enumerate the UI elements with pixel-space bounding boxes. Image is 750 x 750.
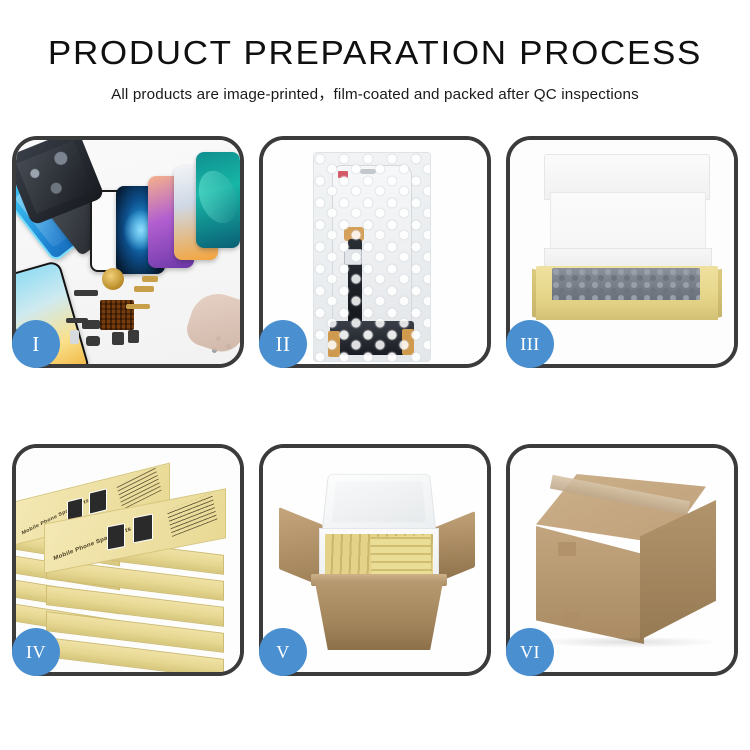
process-steps-grid: I: [12, 136, 738, 692]
foam-lid-icon: [322, 474, 437, 532]
gray-bubble-wrap-icon: [552, 268, 700, 302]
carton-front-face-icon: [536, 526, 644, 644]
technician-hand-icon: [183, 287, 240, 358]
box-front-edge-icon: [536, 300, 718, 320]
process-step-panel-2[interactable]: II: [259, 136, 491, 368]
teal-gradient-phone-icon: [196, 152, 240, 248]
label-screen-image-icon: [107, 523, 125, 550]
process-step-panel-6[interactable]: VI: [506, 444, 738, 676]
antenna-strip-icon: [66, 318, 88, 323]
page-header: PRODUCT PREPARATION PROCESS All products…: [0, 0, 750, 104]
sim-tray-icon: [70, 330, 79, 344]
label-screen-image-icon: [89, 488, 107, 514]
bubble-texture-overlay: [314, 153, 430, 361]
carton-handle-tab-icon: [562, 612, 580, 626]
volume-flex-cable-icon: [134, 286, 154, 292]
page-subtitle: All products are image-printed，film-coat…: [0, 82, 750, 104]
carton-shadow: [534, 638, 720, 648]
carton-body-icon: [315, 582, 443, 650]
power-flex-cable-icon: [126, 304, 150, 309]
carton-handle-tab-icon: [558, 542, 576, 556]
taptic-engine-icon: [112, 332, 124, 345]
process-step-panel-3[interactable]: III: [506, 136, 738, 368]
step-badge-4: IV: [12, 628, 60, 676]
step-badge-2: II: [259, 320, 307, 368]
vibrator-part-icon: [128, 330, 139, 343]
speaker-part-icon: [74, 290, 98, 296]
step-badge-3: III: [506, 320, 554, 368]
page-title: PRODUCT PREPARATION PROCESS: [0, 36, 750, 71]
process-step-panel-4[interactable]: Mobile Phone Spare Parts Mobile Phone Sp…: [12, 444, 244, 676]
packed-kraft-boxes-row-icon: [370, 535, 431, 577]
process-step-panel-1[interactable]: I: [12, 136, 244, 368]
camera-module-icon: [86, 336, 100, 346]
bubble-wrap-bag-icon: [313, 152, 431, 362]
process-step-panel-5[interactable]: V: [259, 444, 491, 676]
step-badge-6: VI: [506, 628, 554, 676]
product-preparation-process-page: PRODUCT PREPARATION PROCESS All products…: [0, 0, 750, 750]
button-flex-icon: [142, 276, 158, 282]
step-badge-5: V: [259, 628, 307, 676]
wireless-charging-coil-icon: [102, 268, 124, 290]
label-spec-lines-icon: [167, 493, 217, 537]
step-badge-1: I: [12, 320, 60, 368]
label-screen-image-icon: [133, 514, 153, 544]
